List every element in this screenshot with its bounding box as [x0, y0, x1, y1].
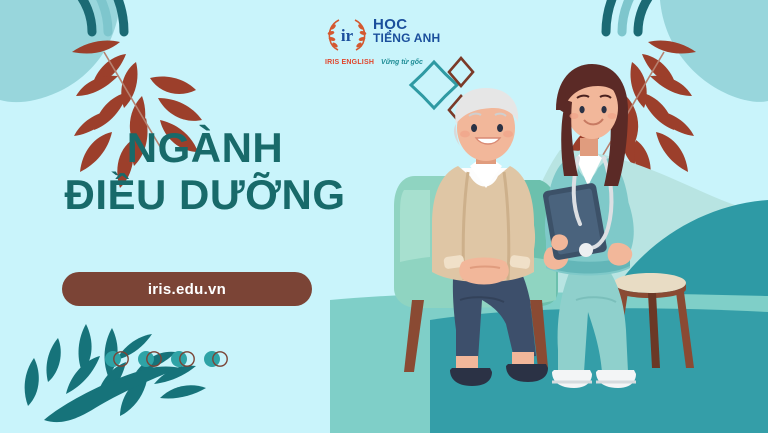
- nurse-eye-left: [579, 106, 584, 113]
- website-url-label: iris.edu.vn: [148, 281, 226, 298]
- page-title-line-2: ĐIỀU DƯỠNG: [40, 171, 370, 218]
- logo-tagline-name: IRIS ENGLISH: [325, 59, 374, 66]
- patient-eye-right: [497, 124, 503, 132]
- logo-mark-text: ir: [341, 26, 354, 45]
- patient-hands: [459, 258, 509, 285]
- dot-pair: [137, 350, 163, 368]
- dot-pair: [203, 350, 229, 368]
- page-title-line-1: NGÀNH: [40, 124, 370, 171]
- logo-line-2: TIẾNG ANH: [373, 31, 440, 45]
- decorative-dot-row: [104, 350, 229, 368]
- logo-wordmark: HỌC TIẾNG ANH: [373, 16, 440, 45]
- patient-ankle-left: [456, 356, 478, 370]
- nurse-eye-right: [601, 106, 606, 113]
- logo-tagline: IRIS ENGLISH Vững từ gốc: [325, 58, 453, 67]
- website-url-button[interactable]: iris.edu.vn: [62, 272, 312, 306]
- stool-seat: [614, 273, 686, 293]
- brand-logo[interactable]: ir HỌC TIẾNG ANH IRIS ENGLISH Vững từ gố…: [325, 16, 450, 72]
- logo-line-1: HỌC: [373, 18, 440, 31]
- patient-ankle-right: [512, 352, 534, 366]
- logo-tagline-slogan: Vững từ gốc: [381, 59, 423, 66]
- page-title: NGÀNH ĐIỀU DƯỠNG: [40, 124, 370, 218]
- dot-pair: [170, 350, 196, 368]
- laurel-wreath-logo-icon: ir: [325, 16, 369, 52]
- patient-eye-left: [471, 124, 477, 132]
- dot-pair: [104, 350, 130, 368]
- banner-canvas: ir HỌC TIẾNG ANH IRIS ENGLISH Vững từ gố…: [0, 0, 768, 433]
- nurse-neck: [580, 138, 598, 156]
- stethoscope-chestpiece: [579, 243, 593, 257]
